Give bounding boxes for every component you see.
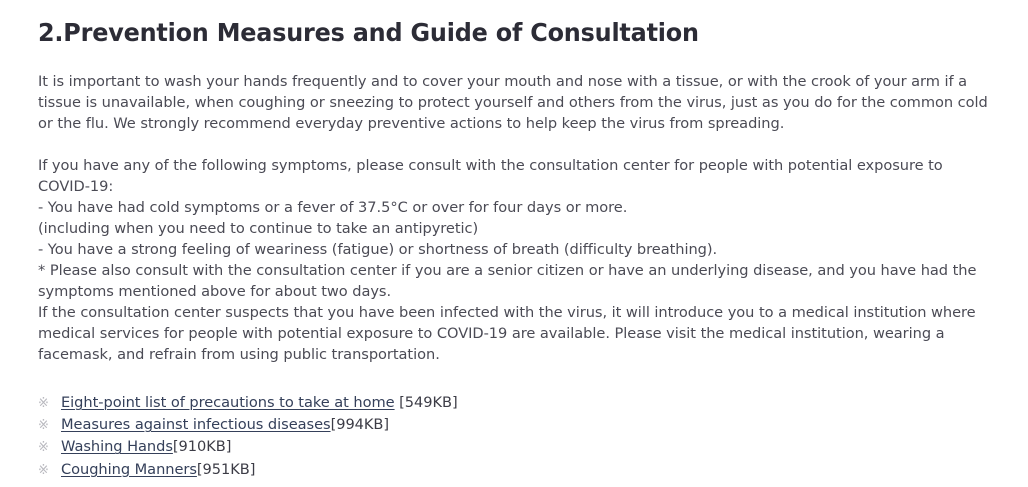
file-size-label: [951KB] [197, 461, 255, 478]
symptom-item-weariness: - You have a strong feeling of weariness… [38, 239, 995, 260]
senior-citizen-note: * Please also consult with the consultat… [38, 260, 995, 302]
list-item: ※ Washing Hands[910KB] [38, 436, 995, 458]
intro-paragraph: It is important to wash your hands frequ… [38, 71, 995, 134]
reference-mark-icon: ※ [38, 437, 61, 458]
reference-mark-icon: ※ [38, 460, 61, 481]
symptom-item-fever: - You have had cold symptoms or a fever … [38, 197, 995, 218]
file-size-label: [994KB] [331, 416, 389, 433]
symptoms-lead-line: If you have any of the following symptom… [38, 155, 995, 197]
symptoms-block: If you have any of the following symptom… [38, 155, 995, 365]
link-measures-against-infectious-diseases[interactable]: Measures against infectious diseases [61, 416, 331, 433]
list-item: ※ Coughing Manners[951KB] [38, 459, 995, 481]
attachment-link-list: ※ Eight-point list of precautions to tak… [38, 392, 995, 481]
document-page: 2.Prevention Measures and Guide of Consu… [0, 0, 1028, 487]
reference-mark-icon: ※ [38, 393, 61, 414]
file-size-label: [549KB] [395, 394, 458, 411]
link-eight-point-list[interactable]: Eight-point list of precautions to take … [61, 394, 395, 411]
link-washing-hands[interactable]: Washing Hands [61, 438, 173, 455]
page-title: 2.Prevention Measures and Guide of Consu… [38, 0, 952, 48]
link-coughing-manners[interactable]: Coughing Manners [61, 461, 197, 478]
medical-institution-note: If the consultation center suspects that… [38, 302, 995, 365]
list-item: ※ Eight-point list of precautions to tak… [38, 392, 995, 414]
symptom-note-antipyretic: (including when you need to continue to … [38, 218, 995, 239]
reference-mark-icon: ※ [38, 415, 61, 436]
list-item: ※ Measures against infectious diseases[9… [38, 414, 995, 436]
file-size-label: [910KB] [173, 438, 231, 455]
